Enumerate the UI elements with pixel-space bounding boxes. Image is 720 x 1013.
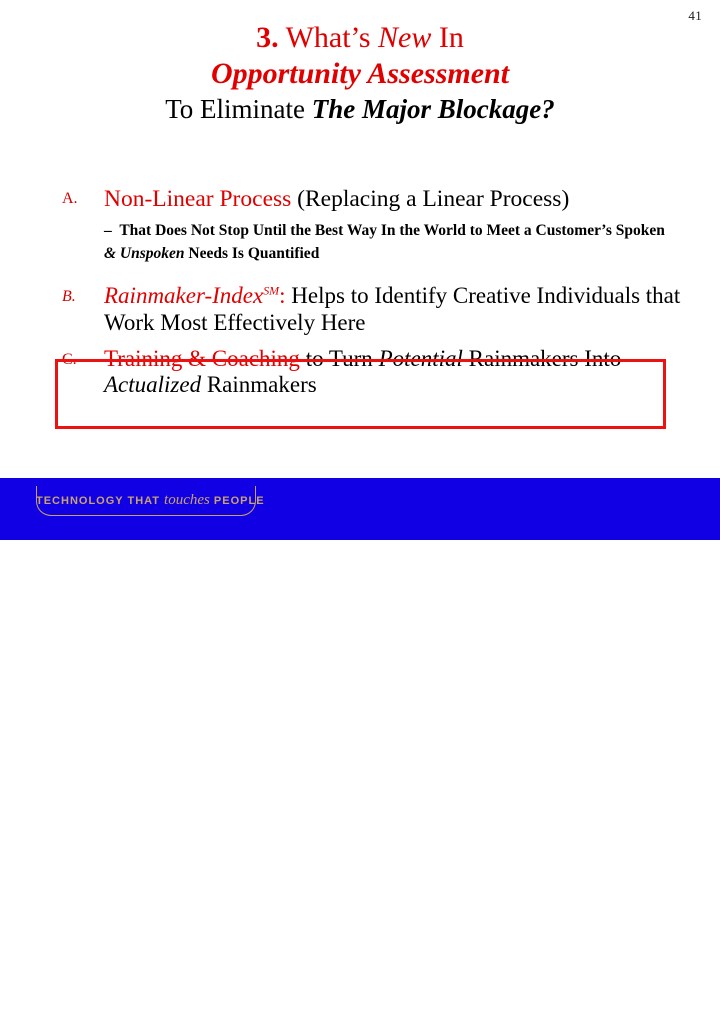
item-b-red-italic-text: Rainmaker-Index [104, 283, 263, 308]
logo-text-controls: CONTROLS [546, 983, 689, 1012]
title-line1-italic: New [378, 21, 431, 54]
item-c-italic-2: Actualized [104, 372, 201, 397]
tagline-part1: TECHNOLOGY THAT [36, 495, 164, 507]
content-list: A. Non-Linear Process (Replacing a Linea… [0, 186, 720, 399]
footer-band: TECHNOLOGY THAT touches PEOPLE JOHNSON C… [0, 478, 720, 540]
title-line1-part2: In [431, 21, 464, 54]
title-line-3: To Eliminate The Major Blockage? [0, 96, 720, 123]
subbullet-italic: & Unspoken [104, 245, 185, 262]
list-item-b-text: Rainmaker-IndexSM: Helps to Identify Cre… [104, 283, 706, 337]
list-item-b: B. Rainmaker-IndexSM: Helps to Identify … [0, 283, 720, 337]
subbullet-part2: Needs Is Quantified [185, 245, 320, 262]
item-a-black-text: (Replacing a Linear Process) [291, 186, 569, 212]
slide-title: 3. What’s New In Opportunity Assessment … [0, 23, 720, 123]
list-item-c-text: Training & Coaching to Turn Potential Ra… [104, 346, 706, 400]
title-line3-bold-italic: The Major Blockage? [312, 94, 555, 124]
list-marker-c: C. [62, 351, 92, 369]
list-item-a-subbullet: – That Does Not Stop Until the Best Way … [104, 220, 680, 265]
title-number: 3. [256, 21, 279, 54]
tagline-group: TECHNOLOGY THAT touches PEOPLE [36, 486, 256, 516]
item-c-italic-1: Potential [379, 346, 463, 371]
item-c-black-text-3: Rainmakers [201, 372, 317, 397]
item-b-superscript-sm: SM [263, 283, 279, 297]
subbullet-part1: That Does Not Stop Until the Best Way In… [116, 222, 665, 239]
tagline-part2: PEOPLE [210, 495, 265, 507]
item-a-red-text: Non-Linear Process [104, 186, 291, 212]
title-line1-part1: What’s [279, 21, 378, 54]
item-c-black-text-1: to Turn [300, 346, 379, 371]
item-c-black-text-2: Rainmakers Into [463, 346, 621, 371]
item-c-red-text: Training & Coaching [104, 346, 300, 371]
page-number: 41 [688, 8, 702, 24]
list-item-a-text: Non-Linear Process (Replacing a Linear P… [104, 186, 706, 213]
list-marker-a: A. [62, 190, 92, 208]
list-item-c: C. Training & Coaching to Turn Potential… [0, 346, 720, 400]
slide-canvas: 41 3. What’s New In Opportunity Assessme… [0, 0, 720, 540]
johnson-controls-logo: JOHNSON CONTROLS [546, 965, 706, 1013]
tagline-text: TECHNOLOGY THAT touches PEOPLE [36, 492, 256, 509]
title-line-1: 3. What’s New In [0, 23, 720, 53]
title-line3-part1: To Eliminate [165, 94, 312, 124]
subbullet-dash: – [104, 222, 112, 239]
list-item-a: A. Non-Linear Process (Replacing a Linea… [0, 186, 720, 266]
title-line-2: Opportunity Assessment [0, 59, 720, 89]
list-marker-b: B. [62, 288, 92, 306]
tagline-italic-word: touches [164, 492, 210, 508]
jci-spiral-emblem-icon [591, 971, 616, 1002]
